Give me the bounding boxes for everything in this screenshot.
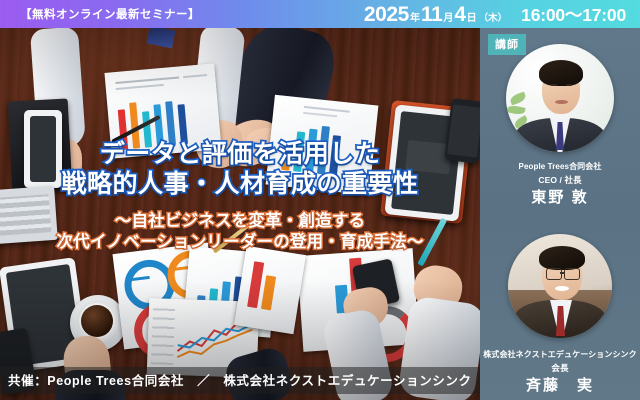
date-year-unit: 年	[410, 14, 420, 24]
date-time-group: 2025 年 11 月 4 日 （木） 16:00〜17:00	[364, 4, 626, 25]
speaker-panel: 講師 People Trees合同会社 CEO / 社長 東野 敦	[480, 28, 640, 400]
desk-hand-holding-phone	[341, 284, 391, 331]
desk-phone-held	[352, 258, 400, 309]
date-month: 11	[421, 4, 442, 25]
desk-saucer	[70, 295, 126, 351]
desk-coffee-cup	[76, 300, 118, 342]
cohost-footer: 共催：People Trees合同会社 ／ 株式会社ネクストエデュケーションシン…	[0, 367, 482, 394]
speaker-hair	[539, 246, 585, 270]
chart-bar	[231, 276, 243, 325]
date-year: 2025	[364, 4, 409, 25]
desk-tablet-bottom-left	[0, 257, 89, 373]
chart-bar	[243, 287, 254, 326]
lecturer-badge: 講師	[488, 34, 526, 55]
chart-text-line	[303, 112, 337, 118]
speaker-organization: 株式会社ネクストエデュケーションシンク	[480, 350, 640, 360]
chart-bar	[349, 258, 365, 313]
donut-label-line	[132, 276, 150, 281]
speaker-card-2: 株式会社ネクストエデュケーションシンク 会長 斉藤 実	[480, 224, 640, 396]
speaker-role: CEO / 社長	[480, 175, 640, 186]
seminar-banner: 【無料オンライン最新セミナー】 2025 年 11 月 4 日 （木） 16:0…	[0, 0, 640, 400]
line-chart-svg	[175, 307, 257, 370]
chart-bar	[207, 288, 218, 323]
donut-label-line	[175, 266, 191, 271]
desk-necktie	[146, 25, 175, 48]
glasses-icon	[564, 268, 580, 280]
graph-axis-labels	[151, 306, 175, 365]
chart-bar	[247, 261, 264, 308]
donut-chart	[165, 248, 218, 301]
title-line-2: 戦略的人事・人材育成の重要性	[0, 170, 480, 200]
subtitle-line-1: 〜自社ビジネスを変革・創造する	[0, 211, 480, 232]
desk-line-graph-paper	[147, 298, 260, 378]
glasses-bridge	[560, 272, 564, 274]
desk-paper-far-right	[234, 246, 306, 334]
time-range: 16:00〜17:00	[521, 7, 626, 25]
chart-text-line	[115, 76, 179, 84]
subtitle-line-2: 次代イノベーションリーダーの登用・育成手法〜	[0, 232, 480, 253]
donut-chart	[131, 300, 193, 362]
speaker-photo-saito	[508, 234, 612, 338]
title-line-1: データと評価を活用した	[0, 140, 480, 170]
chart-text-line	[183, 74, 207, 78]
desk-hand-bottom-right	[411, 262, 466, 314]
header-bar: 【無料オンライン最新セミナー】 2025 年 11 月 4 日 （木） 16:0…	[0, 0, 640, 28]
desk-white-sleeve-right	[190, 24, 245, 138]
speaker-role: 会長	[480, 363, 640, 374]
chart-bar	[335, 285, 349, 314]
desk-paper-right-bottom	[297, 248, 419, 352]
date-month-unit: 月	[443, 14, 453, 24]
date-day-unit: 日	[467, 14, 477, 24]
chart-bar	[219, 281, 231, 324]
desk-white-sleeve-left	[30, 26, 86, 149]
speaker-mouth	[555, 100, 568, 104]
subtitle: 〜自社ビジネスを変革・創造する 次代イノベーションリーダーの登用・育成手法〜	[0, 211, 480, 254]
speaker-name: 東野 敦	[480, 188, 640, 208]
device-screen	[6, 264, 82, 366]
speaker-photo-higashino	[506, 44, 614, 152]
chart-text-line	[304, 106, 350, 113]
donut-chart	[122, 257, 178, 313]
desk-coffee-liquid	[81, 305, 113, 337]
desk-pie-paper	[113, 243, 220, 350]
chart-bar	[165, 101, 176, 145]
speaker-mouth	[555, 286, 569, 291]
chart-bar	[366, 273, 381, 312]
chart-text-line	[116, 84, 164, 90]
speaker-name: 斉藤 実	[480, 376, 640, 396]
background-photo	[0, 0, 480, 400]
cohost-text: 共催：People Trees合同会社 ／ 株式会社ネクストエデュケーションシン…	[8, 374, 472, 388]
chart-bar	[178, 104, 188, 144]
chart-bar	[261, 275, 276, 310]
date-weekday: （木）	[479, 14, 508, 24]
date-day: 4	[454, 4, 465, 25]
donut-chart	[357, 304, 417, 364]
main-title: データと評価を活用した 戦略的人事・人材育成の重要性	[0, 140, 480, 199]
desk-dark-sleeve-top	[223, 17, 341, 156]
speaker-organization: People Trees合同会社	[480, 162, 640, 172]
chart-bar	[195, 295, 205, 322]
speaker-eye	[566, 84, 572, 86]
speaker-eye	[551, 84, 557, 86]
speaker-hair	[539, 60, 583, 86]
desk-bar-paper-bottom	[183, 246, 278, 337]
seminar-label: 【無料オンライン最新セミナー】	[20, 6, 200, 22]
glasses-icon	[546, 268, 562, 280]
